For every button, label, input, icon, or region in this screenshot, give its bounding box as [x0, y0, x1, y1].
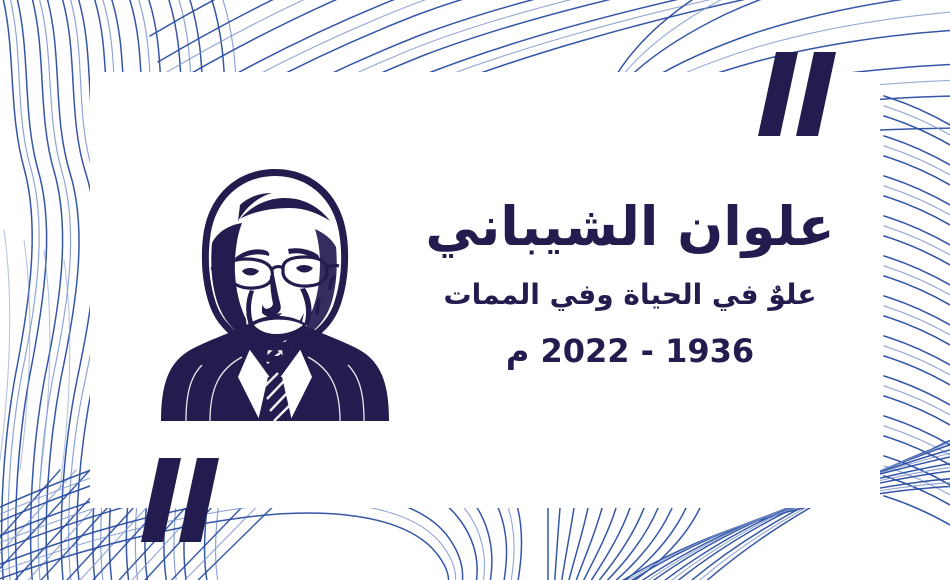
poster-canvas: علوان الشيباني علوٌ في الحياة وفي الممات…: [0, 0, 950, 580]
memorial-dates: 1936 - 2022 م: [415, 331, 845, 373]
portrait-illustration: [150, 163, 400, 421]
memorial-tagline: علوٌ في الحياة وفي الممات: [415, 277, 845, 313]
memorial-name: علوان الشيباني: [415, 195, 845, 259]
memorial-text-block: علوان الشيباني علوٌ في الحياة وفي الممات…: [415, 195, 845, 373]
